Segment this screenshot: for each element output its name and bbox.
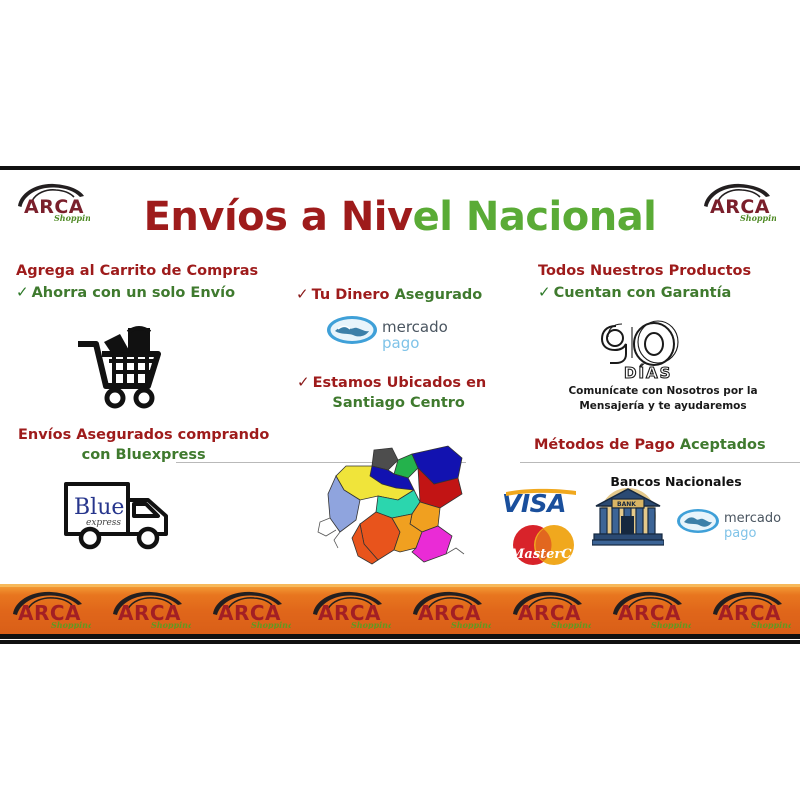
payments-title-green: Aceptados (680, 437, 766, 453)
warranty-badge-90-dias: DÍAS (596, 318, 724, 387)
feature-cart-line2-row: ✓Ahorra con un solo Envío (16, 282, 258, 304)
shopping-cart-icon (72, 324, 168, 415)
check-icon: ✓ (296, 284, 309, 304)
feature-location-line2: Santiago Centro (297, 394, 486, 414)
banner-top-rule (0, 166, 800, 170)
arca-logo-icon: ARCAShopping (109, 589, 191, 629)
strip-arca-logo: ARCAShopping (209, 589, 291, 629)
payments-title-row: Métodos de Pago Aceptados (534, 436, 766, 456)
warranty-note: Comunícate con Nosotros por la Mensajerí… (538, 384, 788, 414)
mercadopago-logo-center: mercado pago (326, 314, 456, 359)
feature-products-line2: Cuentan con Garantía (554, 285, 732, 301)
strip-arca-logo: ARCAShopping (109, 589, 191, 629)
arca-logo-icon: ARCAShopping (709, 589, 791, 629)
svg-text:DÍAS: DÍAS (624, 363, 672, 382)
arca-logo-icon: ARCAShopping (209, 589, 291, 629)
warranty-note-line2: Mensajería y te ayudaremos (538, 399, 788, 414)
svg-text:Shopping: Shopping (151, 620, 191, 629)
feature-money-line1-row: ✓Tu Dinero Asegurado (296, 284, 482, 306)
feature-money: ✓Tu Dinero Asegurado (296, 284, 482, 306)
warranty-note-line1: Comunícate con Nosotros por la (538, 384, 788, 399)
svg-text:Shopping: Shopping (451, 620, 491, 629)
payments-title-red: Métodos de Pago (534, 437, 680, 453)
divider-right (520, 462, 800, 463)
bluexpress-word1: Blue (74, 495, 124, 520)
feature-money-green: Asegurado (395, 287, 483, 303)
page-title-red: Envíos a Niv (144, 194, 413, 240)
mastercard-wordmark: MasterCard (509, 547, 582, 562)
footer-bottom-rule (0, 634, 800, 639)
strip-arca-logo: ARCAShopping (609, 589, 691, 629)
feature-cart-line1: Agrega al Carrito de Compras (16, 262, 258, 282)
feature-cart-line2: Ahorra con un solo Envío (32, 285, 235, 301)
footer-brand-strip: ARCAShoppingARCAShoppingARCAShoppingARCA… (0, 584, 800, 634)
feature-products-line1: Todos Nuestros Productos (538, 262, 751, 282)
santiago-region-map (316, 444, 466, 574)
mp-word2: pago (724, 526, 756, 541)
bluexpress-truck-logo: Blue express (62, 476, 182, 557)
mastercard-logo: MasterCard (504, 524, 582, 575)
feature-cart: Agrega al Carrito de Compras ✓Ahorra con… (16, 262, 258, 303)
strip-arca-logo: ARCAShopping (509, 589, 591, 629)
strip-arca-logo: ARCAShopping (709, 589, 791, 629)
page-title-green: el Nacional (413, 194, 657, 240)
banner-bottom-rule (0, 640, 800, 644)
visa-logo: VISA (500, 488, 582, 527)
feature-products: Todos Nuestros Productos ✓Cuentan con Ga… (538, 262, 751, 303)
bluexpress-word2: express (86, 518, 121, 528)
check-icon: ✓ (297, 372, 310, 392)
feature-products-line2-row: ✓Cuentan con Garantía (538, 282, 751, 304)
mp-word1: mercado (724, 511, 781, 526)
page-title: Envíos a Nivel Nacional (0, 194, 800, 240)
feature-shipping-line2: con Bluexpress (18, 446, 269, 466)
check-icon: ✓ (16, 282, 29, 302)
feature-location-line1: Estamos Ubicados en (313, 375, 487, 391)
feature-money-red: Tu Dinero (312, 287, 395, 303)
mp-word2: pago (382, 334, 419, 352)
strip-arca-logo: ARCAShopping (309, 589, 391, 629)
feature-shipping: Envíos Asegurados comprando con Bluexpre… (18, 426, 269, 465)
promo-banner: ARCA Shopping ARCA Shopping Envíos a Niv… (0, 166, 800, 644)
svg-text:Shopping: Shopping (751, 620, 791, 629)
arca-logo-icon: ARCAShopping (409, 589, 491, 629)
bank-icon: BANK (592, 486, 664, 551)
feature-location: ✓Estamos Ubicados en Santiago Centro (297, 372, 486, 413)
strip-arca-logo: ARCAShopping (9, 589, 91, 629)
svg-text:Shopping: Shopping (51, 620, 91, 629)
poster-canvas: ARCA Shopping ARCA Shopping Envíos a Niv… (0, 0, 800, 800)
strip-logo-row: ARCAShoppingARCAShoppingARCAShoppingARCA… (0, 584, 800, 634)
svg-text:Shopping: Shopping (651, 620, 691, 629)
mercadopago-logo-payments: mercado pago (676, 506, 788, 547)
svg-text:Shopping: Shopping (551, 620, 591, 629)
bank-label: BANK (617, 501, 636, 508)
feature-shipping-line1: Envíos Asegurados comprando (18, 426, 269, 446)
svg-text:Shopping: Shopping (251, 620, 291, 629)
feature-payments: Métodos de Pago Aceptados (534, 436, 766, 456)
arca-logo-icon: ARCAShopping (9, 589, 91, 629)
strip-arca-logo: ARCAShopping (409, 589, 491, 629)
arca-logo-icon: ARCAShopping (609, 589, 691, 629)
feature-location-line1-row: ✓Estamos Ubicados en (297, 372, 486, 394)
check-icon: ✓ (538, 282, 551, 302)
arca-logo-icon: ARCAShopping (309, 589, 391, 629)
svg-text:Shopping: Shopping (351, 620, 391, 629)
arca-logo-icon: ARCAShopping (509, 589, 591, 629)
